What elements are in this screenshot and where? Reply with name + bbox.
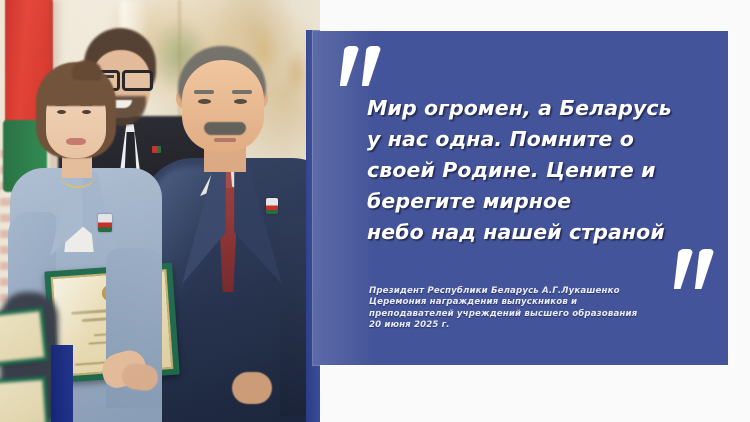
- quote-panel: Мир огромен, а Беларусь у нас одна. Помн…: [313, 31, 728, 365]
- quote-line: берегите мирное: [367, 186, 719, 217]
- president-eye-left: [198, 99, 211, 104]
- attribution-event-line: Церемония награждения выпускников и: [369, 297, 699, 308]
- woman-eye-left: [57, 110, 66, 114]
- quote-card: Мир огромен, а Беларусь у нас одна. Помн…: [0, 0, 750, 422]
- quote-line: Мир огромен, а Беларусь: [367, 93, 719, 124]
- quote-line: небо над нашей страной: [367, 217, 719, 248]
- blue-drape-left: [51, 345, 73, 422]
- president-brow-left: [194, 90, 214, 94]
- attribution-block: Президент Республики Беларусь А.Г.Лукаше…: [369, 286, 699, 332]
- foreground-certificate: [0, 376, 50, 422]
- president-brow-right: [232, 90, 252, 94]
- president-eye-right: [234, 99, 247, 104]
- woman-brow-right: [80, 103, 93, 106]
- attribution-event-line: преподавателей учреждений высшего образо…: [369, 309, 699, 320]
- woman-eye-right: [82, 110, 91, 114]
- foreground-certificate: [0, 307, 49, 367]
- quote-line: у нас одна. Помните о: [367, 124, 719, 155]
- quote-text: Мир огромен, а Беларусь у нас одна. Помн…: [367, 93, 719, 248]
- ceremony-photograph: [0, 0, 320, 422]
- opening-quote-mark-icon: [340, 46, 384, 90]
- president-lapel-pin: [266, 198, 278, 214]
- attribution-date: 20 июня 2025 г.: [369, 320, 699, 331]
- president-mustache: [204, 122, 246, 135]
- woman-brow-left: [55, 103, 68, 106]
- woman-lapel-pin: [98, 214, 112, 232]
- quote-line: своей Родине. Цените и: [367, 155, 719, 186]
- woman-lips: [66, 138, 86, 145]
- attribution-speaker: Президент Республики Беларусь А.Г.Лукаше…: [369, 286, 699, 297]
- president-mouth: [214, 138, 236, 142]
- president-hand: [232, 372, 272, 404]
- woman-fringe: [42, 80, 110, 106]
